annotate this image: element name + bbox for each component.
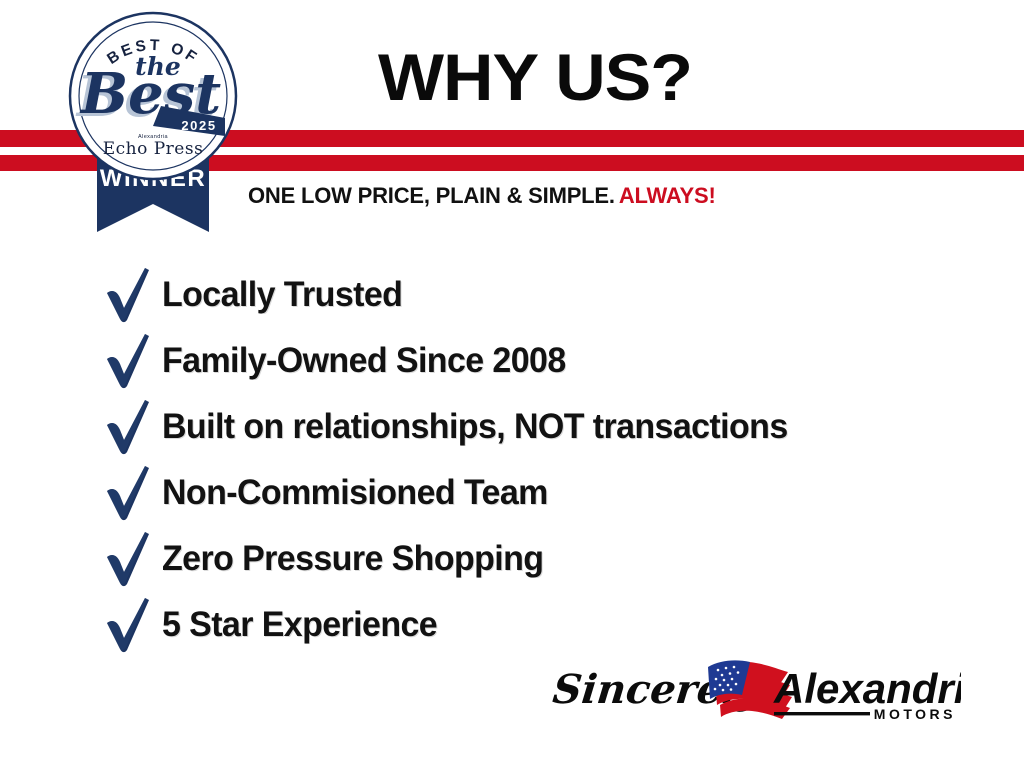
check-icon [104,531,162,587]
benefits-list: Locally Trusted Family-Owned Since 2008 … [104,262,1004,658]
badge-publisher: Echo Press [103,139,204,159]
list-item-label: 5 Star Experience [162,606,437,644]
check-icon [104,465,162,521]
alexandria-motors-logo: Alexandria MOTORS [706,655,961,733]
logo-subtext: MOTORS [874,706,956,722]
page-subtitle: ONE LOW PRICE, PLAIN & SIMPLE.ALWAYS! [248,183,716,209]
list-item: Locally Trusted [104,262,1004,328]
list-item-label: Non-Commisioned Team [162,474,548,512]
check-icon [104,597,162,653]
list-item: 5 Star Experience [104,592,1004,658]
list-item-label: Locally Trusted [162,276,402,314]
logo-wordmark: Alexandria [773,665,961,712]
list-item-label: Family-Owned Since 2008 [162,342,566,380]
check-icon [104,267,162,323]
list-item: Zero Pressure Shopping [104,526,1004,592]
subtitle-main: ONE LOW PRICE, PLAIN & SIMPLE. [248,183,615,208]
logo-divider [774,712,870,715]
page-title: WHY US? [238,42,832,112]
list-item: Built on relationships, NOT transactions [104,394,1004,460]
list-item-label: Zero Pressure Shopping [162,540,543,578]
badge-year: 2025 [181,118,216,133]
list-item-label: Built on relationships, NOT transactions [162,408,788,446]
subtitle-always: ALWAYS! [619,183,716,208]
check-icon [104,333,162,389]
list-item: Non-Commisioned Team [104,460,1004,526]
check-icon [104,399,162,455]
list-item: Family-Owned Since 2008 [104,328,1004,394]
best-of-the-best-badge: WINNER BEST OF the Best Best 2025 Alexan… [63,8,243,240]
